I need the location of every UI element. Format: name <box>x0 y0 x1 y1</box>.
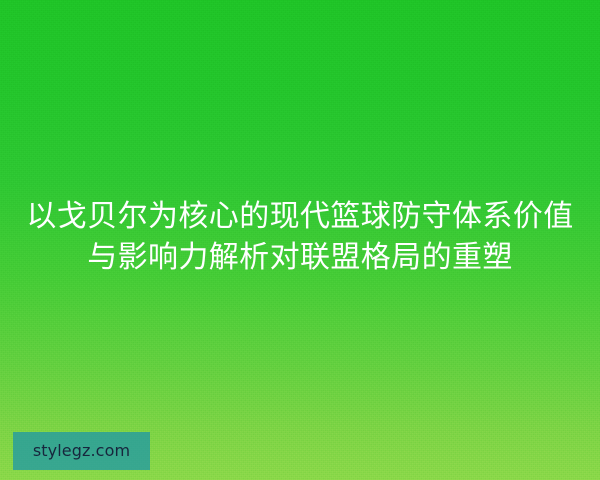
watermark-text: stylegz.com <box>33 443 130 459</box>
watermark-badge: stylegz.com <box>13 432 150 470</box>
title-block: 以戈贝尔为核心的现代篮球防守体系价值 与影响力解析对联盟格局的重塑 <box>0 196 600 278</box>
title-line-1: 以戈贝尔为核心的现代篮球防守体系价值 <box>14 196 586 237</box>
title-line-2: 与影响力解析对联盟格局的重塑 <box>14 237 586 278</box>
poster-image: 以戈贝尔为核心的现代篮球防守体系价值 与影响力解析对联盟格局的重塑 styleg… <box>0 0 600 480</box>
